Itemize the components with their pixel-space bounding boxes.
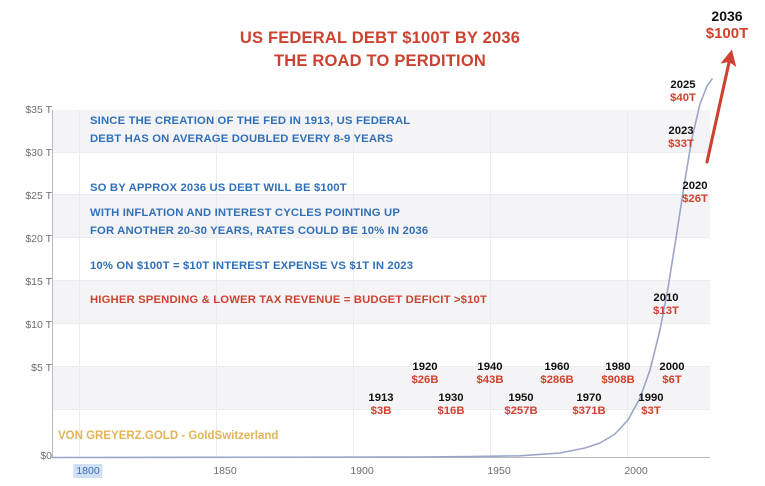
callout-value: $908B <box>601 374 634 387</box>
callout-2036: 2036 $100T <box>706 8 749 42</box>
note-line-7: HIGHER SPENDING & LOWER TAX REVENUE = BU… <box>90 293 487 308</box>
callout-year: 1980 <box>601 361 634 374</box>
note-line-3: SO BY APPROX 2036 US DEBT WILL BE $100T <box>90 181 347 196</box>
x-axis-tick-1850[interactable]: 1850 <box>210 464 239 478</box>
y-axis-tick-30t: $30 T <box>0 147 52 159</box>
callout-year: 1940 <box>476 361 503 374</box>
watermark-brand: VON GREYERZ.GOLD - GoldSwitzerland <box>58 430 278 442</box>
y-axis-tick-10t: $10 T <box>0 319 52 331</box>
y-axis-tick-0: $0 <box>0 450 52 462</box>
callout-value: $6T <box>659 374 684 387</box>
callout-value: $16B <box>437 405 464 418</box>
x-axis-tick-2000[interactable]: 2000 <box>621 464 650 478</box>
note-line-6: 10% ON $100T = $10T INTEREST EXPENSE VS … <box>90 259 413 274</box>
x-axis-tick-1800[interactable]: 1800 <box>73 464 102 478</box>
gridline-vertical <box>216 110 217 457</box>
chart-title-line-2: THE ROAD TO PERDITION <box>120 50 640 73</box>
callout-1940: 1940 $43B <box>476 361 503 388</box>
gridline-vertical <box>353 110 354 457</box>
y-axis-tick-35t: $35 T <box>0 104 52 116</box>
x-axis-tick-1950[interactable]: 1950 <box>484 464 513 478</box>
callout-1960: 1960 $286B <box>540 361 573 388</box>
callout-1980: 1980 $908B <box>601 361 634 388</box>
callout-value: $26B <box>411 374 438 387</box>
x-axis-tick-1900[interactable]: 1900 <box>347 464 376 478</box>
callout-year: 2025 <box>670 79 696 92</box>
callout-value: $3B <box>368 405 393 418</box>
callout-1950: 1950 $257B <box>504 392 537 419</box>
callout-year: 1970 <box>572 392 605 405</box>
callout-year: 2020 <box>682 180 708 193</box>
gridline-vertical <box>79 110 80 457</box>
callout-value: $43B <box>476 374 503 387</box>
callout-2020: 2020 $26T <box>682 180 708 207</box>
callout-1913: 1913 $3B <box>368 392 393 419</box>
y-axis-tick-5t: $5 T <box>0 362 52 374</box>
callout-year: 1960 <box>540 361 573 374</box>
callout-year: 1920 <box>411 361 438 374</box>
callout-value: $371B <box>572 405 605 418</box>
callout-value: $257B <box>504 405 537 418</box>
gridline-vertical <box>490 110 491 457</box>
gridline-horizontal <box>53 323 710 324</box>
chart-root: US FEDERAL DEBT $100T BY 2036 THE ROAD T… <box>0 0 765 486</box>
callout-year: 1913 <box>368 392 393 405</box>
y-axis-tick-25t: $25 T <box>0 190 52 202</box>
callout-year: 2000 <box>659 361 684 374</box>
callout-year: 1990 <box>638 392 663 405</box>
chart-title-line-1: US FEDERAL DEBT $100T BY 2036 <box>120 27 640 50</box>
callout-1930: 1930 $16B <box>437 392 464 419</box>
callout-1970: 1970 $371B <box>572 392 605 419</box>
callout-year: 1950 <box>504 392 537 405</box>
y-axis-tick-15t: $15 T <box>0 276 52 288</box>
chart-title: US FEDERAL DEBT $100T BY 2036 THE ROAD T… <box>120 27 640 73</box>
gridline-horizontal <box>53 152 710 153</box>
callout-year: 2023 <box>668 125 694 138</box>
callout-value: $286B <box>540 374 573 387</box>
callout-value: $13T <box>653 305 679 318</box>
gridline-vertical <box>627 110 628 457</box>
callout-year: 2036 <box>706 8 749 25</box>
callout-2010: 2010 $13T <box>653 292 679 319</box>
callout-value: $26T <box>682 193 708 206</box>
callout-value: $3T <box>638 405 663 418</box>
note-line-5: FOR ANOTHER 20-30 YEARS, RATES COULD BE … <box>90 224 428 239</box>
note-line-2: DEBT HAS ON AVERAGE DOUBLED EVERY 8-9 YE… <box>90 132 393 147</box>
callout-1920: 1920 $26B <box>411 361 438 388</box>
callout-value: $100T <box>706 25 749 43</box>
callout-2000: 2000 $6T <box>659 361 684 388</box>
callout-year: 1930 <box>437 392 464 405</box>
note-line-1: SINCE THE CREATION OF THE FED IN 1913, U… <box>90 114 410 129</box>
callout-2025: 2025 $40T <box>670 79 696 106</box>
callout-value: $40T <box>670 92 696 105</box>
callout-1990: 1990 $3T <box>638 392 663 419</box>
projection-arrow <box>707 58 730 162</box>
y-axis-tick-20t: $20 T <box>0 233 52 245</box>
callout-year: 2010 <box>653 292 679 305</box>
callout-2023: 2023 $33T <box>668 125 694 152</box>
callout-value: $33T <box>668 138 694 151</box>
gridline-horizontal <box>53 280 710 281</box>
note-line-4: WITH INFLATION AND INTEREST CYCLES POINT… <box>90 206 400 221</box>
